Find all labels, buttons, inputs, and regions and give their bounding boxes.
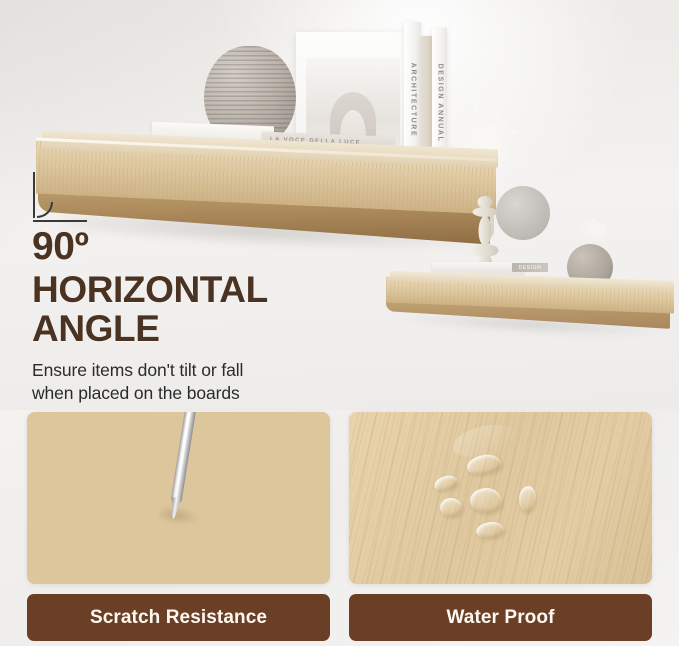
headline-block: 90º HORIZONTAL ANGLE Ensure items don't … <box>32 226 362 405</box>
waterproof-swatch-image <box>349 412 652 584</box>
scratch-swatch-image <box>27 412 330 584</box>
small-floating-shelf <box>386 276 676 336</box>
angle-horizontal-line <box>33 220 87 222</box>
water-droplet <box>475 521 505 540</box>
book-label-badge: DESIGN <box>512 263 548 272</box>
headline-line-1: 90º <box>32 226 362 268</box>
book-spine-label: ARCHITECTURE <box>409 63 416 137</box>
sphere-vase-sprig <box>572 216 618 248</box>
feature-panels: Scratch Resistance Water Proof <box>0 412 679 646</box>
feature-water-proof: Water Proof <box>349 412 652 646</box>
right-angle-icon <box>33 172 89 222</box>
angle-arc <box>37 202 53 218</box>
headline-line-2: HORIZONTAL <box>32 271 362 308</box>
subheadline: Ensure items don't tilt or fall when pla… <box>32 359 362 405</box>
water-droplet <box>470 488 502 513</box>
water-droplet <box>433 473 459 492</box>
feature-scratch-resistance: Scratch Resistance <box>27 412 330 646</box>
water-droplet <box>440 498 462 517</box>
headline-line-3: ANGLE <box>32 310 362 347</box>
candlestick-segment <box>479 216 492 246</box>
subheadline-line-1: Ensure items don't tilt or fall <box>32 359 362 382</box>
subheadline-line-2: when placed on the boards <box>32 382 362 405</box>
angle-vertical-line <box>33 172 35 218</box>
product-feature-graphic: ARCHITECTURE DESIGN ANNUAL LA VOCE DELLA… <box>0 0 679 646</box>
water-droplet <box>517 485 537 513</box>
feature-caption-waterproof: Water Proof <box>349 594 652 641</box>
feature-caption-scratch: Scratch Resistance <box>27 594 330 641</box>
